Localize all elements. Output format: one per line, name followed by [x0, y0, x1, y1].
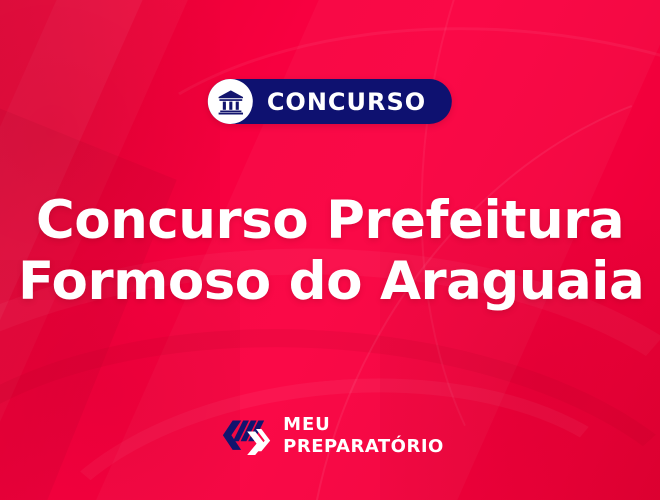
badge-icon-circle — [208, 79, 253, 124]
brand-wordmark-line-1: MEU — [283, 416, 444, 434]
concurso-badge: CONCURSO — [208, 79, 452, 124]
badge-label: CONCURSO — [267, 90, 426, 114]
banner-content: CONCURSO Concurso Prefeitura Formoso do … — [0, 0, 660, 500]
promo-banner: CONCURSO Concurso Prefeitura Formoso do … — [0, 0, 660, 500]
title-line-2: Formoso do Araguaia — [18, 251, 642, 312]
title-line-1: Concurso Prefeitura — [18, 190, 642, 251]
brand-logo: MEU PREPARATÓRIO — [216, 416, 444, 456]
meu-preparatorio-chevron-logo-icon — [216, 416, 272, 456]
brand-wordmark: MEU PREPARATÓRIO — [283, 416, 444, 456]
page-title: Concurso Prefeitura Formoso do Araguaia — [0, 190, 660, 313]
classical-building-icon — [216, 89, 244, 115]
brand-wordmark-line-2: PREPARATÓRIO — [283, 438, 444, 456]
